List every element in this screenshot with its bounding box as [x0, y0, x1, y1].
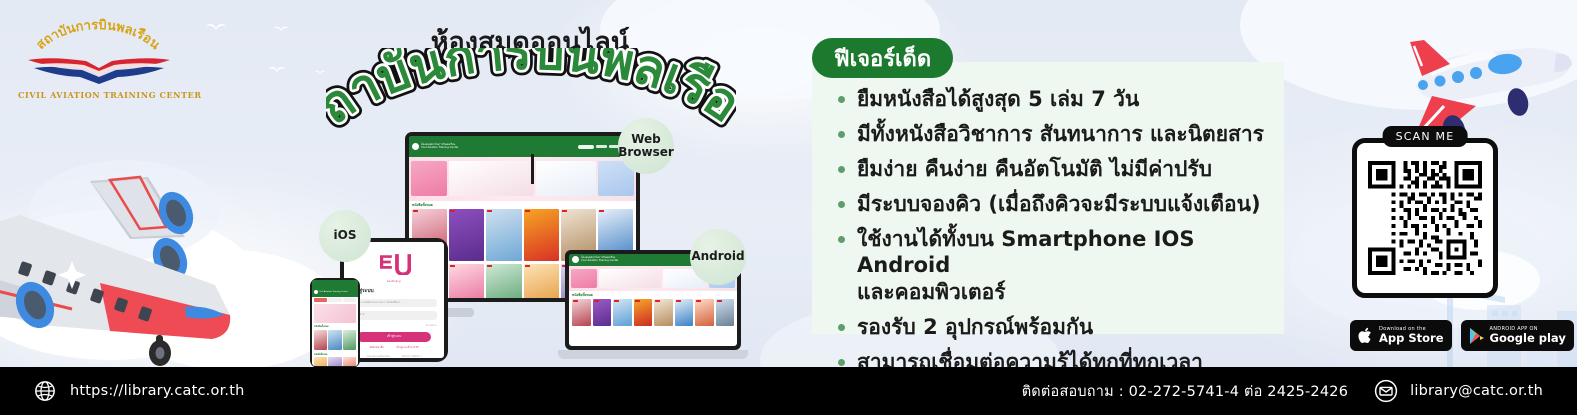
app-nav-title: Civil Aviation Training Center	[319, 291, 348, 293]
site-nav-title-en: Civil Aviation Training Center	[581, 260, 618, 263]
feature-item: รองรับ 2 อุปกรณ์พร้อมกัน	[838, 314, 1278, 341]
bullet-icon	[838, 236, 845, 243]
book-cover[interactable]	[695, 299, 714, 326]
footer-bar: https://library.catc.or.th ติดต่อสอบถาม …	[0, 367, 1577, 415]
google-play-icon	[1469, 327, 1485, 345]
features-list: ยืมหนังสือได้สูงสุด 5 เล่ม 7 วัน มีทั้งห…	[838, 86, 1278, 384]
site-search-input[interactable]	[578, 145, 594, 149]
book-cover[interactable]	[524, 264, 559, 299]
book-cover[interactable]	[486, 264, 521, 299]
site-section-label: หนังสือทั้งหมด	[569, 291, 737, 299]
bullet-icon	[838, 359, 845, 366]
apple-icon	[1358, 326, 1374, 345]
login-privacy-link[interactable]: นโยบายความเป็นส่วนตัว	[366, 354, 390, 358]
elibrary-app-name: eLibrary	[387, 279, 401, 283]
book-cover[interactable]	[613, 299, 632, 326]
bird-icon	[205, 24, 227, 36]
laptop-base	[558, 350, 748, 359]
book-cover[interactable]	[343, 357, 356, 366]
login-password-field[interactable]: รหัสผ่าน	[351, 311, 437, 319]
book-cover[interactable]	[314, 357, 327, 366]
feature-item-label: มีระบบจองคิว (เมื่อถึงคิวจะมีระบบแจ้งเตื…	[857, 191, 1261, 218]
book-cover[interactable]	[343, 330, 356, 350]
footer-contact-text: ติดต่อสอบถาม : 02-272-5741-4 ต่อ 2425-24…	[1022, 380, 1348, 403]
qr-code-image[interactable]	[1368, 154, 1482, 282]
site-hero-banner	[409, 157, 636, 201]
login-register-link[interactable]: สมัครสมาชิก	[370, 346, 385, 350]
book-cover[interactable]	[449, 209, 484, 261]
book-cover[interactable]	[654, 299, 673, 326]
book-cover[interactable]	[675, 299, 694, 326]
hero-card[interactable]	[536, 161, 596, 196]
callout-web-browser-label: Web Browser	[618, 133, 674, 160]
google-play-badge[interactable]: ANDROID APP ON Google play	[1461, 320, 1574, 351]
app-hero-banner[interactable]	[314, 304, 356, 323]
login-terms-link[interactable]: เงื่อนไขการให้บริการ	[402, 354, 422, 358]
bullet-icon	[838, 166, 845, 173]
app-store-badges: Download on the App Store ANDROID APP ON…	[1350, 320, 1574, 351]
callout-android: Android	[690, 229, 746, 285]
bullet-icon	[838, 96, 845, 103]
elibrary-logo-icon	[377, 252, 411, 275]
feature-item-label: มีทั้งหนังสือวิชาการ สันทนาการ และนิตยสา…	[857, 121, 1264, 148]
site-section-label: หนังสือทั้งหมด	[409, 201, 636, 209]
hero-card[interactable]	[571, 269, 597, 287]
callout-android-label: Android	[691, 250, 744, 263]
feature-item-label: ยืมหนังสือได้สูงสุด 5 เล่ม 7 วัน	[857, 86, 1139, 113]
callout-ios: iOS	[319, 210, 371, 262]
feature-item: ยืมง่าย คืนง่าย คืนอัตโนมัติ ไม่มีค่าปรั…	[838, 156, 1278, 183]
site-logo-icon	[412, 143, 419, 150]
feature-item: มีระบบจองคิว (เมื่อถึงคิวจะมีระบบแจ้งเตื…	[838, 191, 1278, 218]
book-cover[interactable]	[716, 299, 735, 326]
email-icon	[1374, 379, 1398, 403]
logo-wings-icon	[26, 54, 172, 90]
callout-ios-label: iOS	[334, 229, 357, 242]
feature-item: ใช้งานได้ทั้งบน Smartphone IOS Android	[838, 226, 1278, 280]
feature-item: มีทั้งหนังสือวิชาการ สันทนาการ และนิตยสา…	[838, 121, 1278, 148]
book-cover[interactable]	[593, 299, 612, 326]
login-submit-button[interactable]: เข้าสู่ระบบ	[357, 332, 431, 342]
bullet-icon	[838, 201, 845, 208]
site-nav-link[interactable]	[596, 145, 607, 148]
catc-logo: สถาบันการบินพลเรือน CIVIL AVIATION TRAIN…	[18, 18, 178, 106]
qr-code-block[interactable]: SCAN ME	[1352, 138, 1498, 298]
feature-item-continuation: และคอมพิวเตอร์	[838, 279, 1278, 306]
svg-text:สถาบันการบินพลเรือน: สถาบันการบินพลเรือน	[34, 18, 163, 53]
device-mockups: ห้องสมุดสถาบันการบินพลเรือน Civil Aviati…	[300, 110, 770, 360]
feature-item-label: รองรับ 2 อุปกรณ์พร้อมกัน	[857, 314, 1093, 341]
book-cover[interactable]	[486, 209, 521, 261]
site-nav-title-en: Civil Aviation Training Center	[421, 147, 458, 150]
footer-email-address[interactable]: library@catc.or.th	[1410, 383, 1543, 399]
globe-icon	[34, 380, 56, 402]
bullet-icon	[838, 131, 845, 138]
feature-item-label: ยืมง่าย คืนง่าย คืนอัตโนมัติ ไม่มีค่าปรั…	[857, 156, 1212, 183]
app-section-label-2: หนังสือทั้งหมด	[312, 350, 358, 357]
site-navbar: ห้องสมุดสถาบันการบินพลเรือน Civil Aviati…	[409, 136, 636, 157]
hero-card[interactable]	[599, 269, 661, 287]
apple-badge-title: App Store	[1379, 332, 1444, 344]
qr-scan-me-label: SCAN ME	[1383, 126, 1468, 147]
footer-website-group[interactable]: https://library.catc.or.th	[34, 380, 244, 402]
google-badge-title: Google play	[1490, 332, 1566, 344]
features-badge: ฟีเจอร์เด็ด	[812, 38, 953, 78]
callout-stem-web	[531, 154, 534, 184]
promo-banner: สถาบันการบินพลเรือน CIVIL AVIATION TRAIN…	[0, 0, 1577, 415]
airplane-illustration-left	[0, 175, 280, 380]
book-cover[interactable]	[328, 357, 341, 366]
book-cover[interactable]	[314, 330, 327, 350]
book-cover[interactable]	[634, 299, 653, 326]
book-grid	[569, 299, 737, 329]
bird-icon	[273, 27, 289, 36]
logo-caption: CIVIL AVIATION TRAINING CENTER	[18, 90, 178, 100]
smartphone-mockup: Civil Aviation Training Center หนังสือทั…	[310, 278, 360, 368]
bird-icon	[314, 71, 327, 78]
features-badge-label: ฟีเจอร์เด็ด	[834, 41, 931, 76]
book-cover[interactable]	[328, 330, 341, 350]
book-cover[interactable]	[449, 264, 484, 299]
login-otp-link[interactable]: เข้าสู่ระบบด้วย OTP	[396, 346, 418, 350]
footer-email-group[interactable]: library@catc.or.th	[1374, 379, 1543, 403]
hero-card[interactable]	[449, 161, 534, 196]
callout-web-browser: Web Browser	[618, 118, 674, 174]
site-logo-icon	[572, 256, 579, 263]
apple-app-store-badge[interactable]: Download on the App Store	[1350, 320, 1452, 351]
logo-arc-label: สถาบันการบินพลเรือน	[34, 18, 163, 53]
login-forgot-password-link[interactable]: ลืมรหัสผ่าน	[351, 324, 437, 328]
book-cover[interactable]	[524, 209, 559, 261]
feature-item-label: ใช้งานได้ทั้งบน Smartphone IOS Android	[857, 226, 1278, 280]
bird-icon	[268, 67, 287, 77]
footer-website-url[interactable]: https://library.catc.or.th	[70, 383, 244, 399]
feature-item: ยืมหนังสือได้สูงสุด 5 เล่ม 7 วัน	[838, 86, 1278, 113]
login-username-field[interactable]: อีเมล / เลขบัตรประชาชน / รหัสนักศึกษา	[351, 299, 437, 307]
feature-item-continuation-label: และคอมพิวเตอร์	[857, 279, 1006, 306]
book-cover[interactable]	[572, 299, 591, 326]
hero-card[interactable]	[411, 161, 447, 196]
bullet-icon	[838, 324, 845, 331]
library-app-screen: Civil Aviation Training Center หนังสือทั…	[312, 280, 358, 366]
